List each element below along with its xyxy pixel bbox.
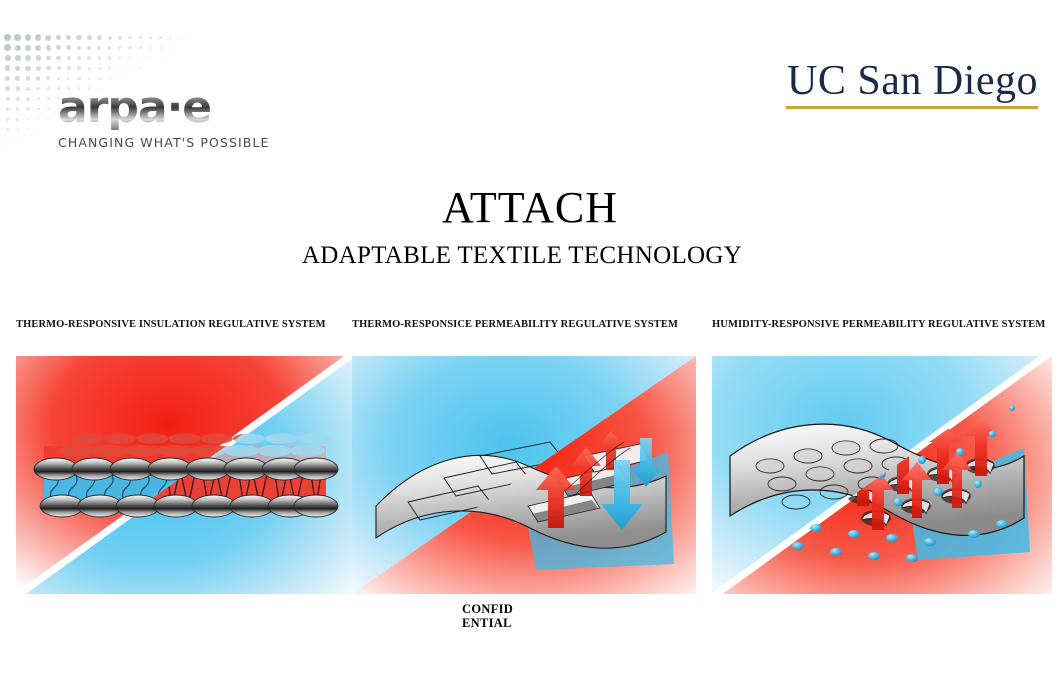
dot-matrix-dot xyxy=(5,76,10,81)
dot-matrix-dot xyxy=(37,108,40,111)
thermo-responsive-insulation-illustration xyxy=(16,356,354,594)
dot-matrix-dot xyxy=(56,35,62,41)
dot-matrix-dot xyxy=(180,47,182,49)
dot-matrix-dot xyxy=(15,45,21,51)
dot-matrix-dot xyxy=(160,68,161,69)
dot-matrix-dot xyxy=(46,66,50,70)
dot-matrix-dot xyxy=(27,149,28,150)
dot-matrix-dot xyxy=(108,36,112,40)
dot-matrix-dot xyxy=(45,35,51,41)
dot-matrix-dot xyxy=(232,37,233,38)
dot-matrix-dot xyxy=(181,68,182,69)
dot-matrix-dot xyxy=(160,78,161,79)
dot-matrix-dot xyxy=(6,128,9,131)
dot-matrix-dot xyxy=(140,78,141,79)
dot-matrix-dot xyxy=(5,65,11,71)
dot-matrix-dot xyxy=(191,68,192,69)
arpa-e-tagline: CHANGING WHAT'S POSSIBLE xyxy=(58,135,270,150)
dot-matrix-dot xyxy=(160,57,162,59)
dot-matrix-dot xyxy=(56,45,61,50)
dot-matrix-dot xyxy=(98,56,101,59)
dot-matrix-dot xyxy=(7,149,9,151)
dot-matrix-dot xyxy=(17,128,19,130)
page-header: arpa·e CHANGING WHAT'S POSSIBLE UC San D… xyxy=(0,0,1060,170)
dot-matrix-dot xyxy=(25,66,30,71)
dot-matrix-dot xyxy=(87,46,91,50)
uc-san-diego-logo: UC San Diego xyxy=(786,58,1038,109)
panel-heading: THERMO-RESPONSIVE INSULATION REGULATIVE … xyxy=(16,318,354,348)
dot-matrix-dot xyxy=(46,45,51,50)
dot-matrix-dot xyxy=(139,67,141,69)
dot-matrix-dot xyxy=(128,46,131,49)
dot-matrix-dot xyxy=(88,77,91,80)
dot-matrix-dot xyxy=(170,47,172,49)
dot-matrix-dot xyxy=(4,34,11,41)
dot-matrix-dot xyxy=(16,118,19,121)
dot-matrix-dot xyxy=(5,86,10,91)
dot-matrix-dot xyxy=(15,55,21,61)
title-block: ATTACH ADAPTABLE TEXTILE TECHNOLOGY xyxy=(0,182,1060,272)
dot-matrix-dot xyxy=(6,107,10,111)
dot-matrix-dot xyxy=(98,67,101,70)
dot-matrix-dot xyxy=(108,46,112,50)
dot-matrix-dot xyxy=(77,77,80,80)
dot-matrix-dot xyxy=(26,107,29,110)
dot-matrix-dot xyxy=(97,46,101,50)
panel-thermo-insulation: THERMO-RESPONSIVE INSULATION REGULATIVE … xyxy=(16,318,354,594)
dot-matrix-dot xyxy=(16,86,20,90)
dot-matrix-dot xyxy=(4,44,11,51)
dot-matrix-dot xyxy=(201,47,202,48)
dot-matrix-dot xyxy=(191,47,192,48)
dot-matrix-dot xyxy=(211,58,212,59)
dot-matrix-dot xyxy=(129,78,131,80)
dot-matrix-dot xyxy=(108,67,111,70)
dot-matrix-dot xyxy=(47,118,49,120)
dot-matrix-dot xyxy=(25,34,32,41)
dot-matrix-dot xyxy=(37,97,40,100)
dot-matrix-dot xyxy=(221,37,222,38)
dot-matrix-dot xyxy=(77,56,81,60)
dot-matrix-dot xyxy=(67,56,71,60)
dot-matrix-dot xyxy=(36,55,41,60)
dot-matrix-dot xyxy=(57,77,61,81)
dot-matrix-dot xyxy=(160,47,162,49)
dot-matrix-dot xyxy=(7,139,9,141)
dot-matrix-dot xyxy=(17,149,18,150)
dot-matrix-dot xyxy=(77,66,81,70)
dot-matrix-dot xyxy=(190,37,192,39)
dot-matrix-dot xyxy=(150,78,151,79)
dot-matrix-dot xyxy=(201,37,202,38)
dot-matrix-dot xyxy=(242,37,243,38)
dot-matrix-dot xyxy=(77,46,82,51)
dot-matrix-dot xyxy=(37,118,39,120)
panel-heading: HUMIDITY-RESPONSIVE PERMEABILITY REGULAT… xyxy=(712,318,1050,348)
dot-matrix-dot xyxy=(159,36,162,39)
dot-matrix-dot xyxy=(15,76,20,81)
dot-matrix-dot xyxy=(35,34,41,40)
dot-matrix-dot xyxy=(150,67,151,68)
dot-matrix-dot xyxy=(180,57,181,58)
dot-matrix-dot xyxy=(17,139,19,141)
dot-matrix-dot xyxy=(46,76,50,80)
dot-matrix-dot xyxy=(87,35,92,40)
page-subtitle: ADAPTABLE TEXTILE TECHNOLOGY xyxy=(0,240,1060,272)
dot-matrix-dot xyxy=(129,57,132,60)
dot-matrix-dot xyxy=(139,36,142,39)
panel-humidity-permeability: HUMIDITY-RESPONSIVE PERMEABILITY REGULAT… xyxy=(712,318,1050,594)
dot-matrix-dot xyxy=(27,128,29,130)
dot-matrix-dot xyxy=(47,108,49,110)
dot-matrix-dot xyxy=(221,47,222,48)
dot-matrix-dot xyxy=(56,56,61,61)
dot-matrix-dot xyxy=(35,45,41,51)
dot-matrix-dot xyxy=(38,149,39,150)
dot-matrix-dot xyxy=(26,87,30,91)
dot-matrix-dot xyxy=(119,67,121,69)
dot-matrix-dot xyxy=(47,97,50,100)
dot-matrix-dot xyxy=(48,129,49,130)
dot-matrix-dot xyxy=(170,57,171,58)
dot-matrix-dot xyxy=(88,67,91,70)
dot-matrix-dot xyxy=(109,77,111,79)
dot-matrix-dot xyxy=(67,66,71,70)
uc-san-diego-rule xyxy=(786,106,1038,109)
dot-matrix-dot xyxy=(118,46,121,49)
dot-matrix-dot xyxy=(180,37,182,39)
dot-matrix-dot xyxy=(139,57,141,59)
dot-matrix-dot xyxy=(149,36,152,39)
dot-matrix-dot xyxy=(46,56,51,61)
dot-matrix-dot xyxy=(87,56,91,60)
humidity-responsive-permeability-illustration xyxy=(712,356,1052,594)
dot-matrix-dot xyxy=(211,47,212,48)
dot-matrix-dot xyxy=(26,97,30,101)
dot-matrix-dot xyxy=(97,35,101,39)
dot-matrix-dot xyxy=(48,149,49,150)
arpa-e-logo: arpa·e CHANGING WHAT'S POSSIBLE xyxy=(58,86,270,156)
dot-matrix-dot xyxy=(211,37,212,38)
panel-thermo-permeability: THERMO-RESPONSICE PERMEABILITY REGULATIV… xyxy=(352,318,690,594)
dot-matrix-dot xyxy=(38,139,39,140)
dot-matrix-dot xyxy=(36,87,40,91)
arpa-e-wordmark: arpa·e xyxy=(58,86,211,130)
dot-matrix-dot xyxy=(76,35,81,40)
dot-matrix-dot xyxy=(149,57,151,59)
dot-matrix-dot xyxy=(27,118,30,121)
dot-matrix-dot xyxy=(5,55,11,61)
dot-matrix-dot xyxy=(119,77,121,79)
dot-matrix-dot xyxy=(118,57,121,60)
dot-matrix-dot xyxy=(25,55,31,61)
dot-matrix-dot xyxy=(36,66,41,71)
dot-matrix-dot xyxy=(6,118,9,121)
dot-matrix-dot xyxy=(47,87,50,90)
dot-matrix-dot xyxy=(66,45,71,50)
dot-matrix-dot xyxy=(170,78,171,79)
dot-matrix-dot xyxy=(16,97,20,101)
dot-matrix-dot xyxy=(48,139,49,140)
dot-matrix-dot xyxy=(170,36,172,38)
dot-matrix-dot xyxy=(139,46,142,49)
panel-heading: THERMO-RESPONSICE PERMEABILITY REGULATIV… xyxy=(352,318,690,348)
dot-matrix-dot xyxy=(14,34,21,41)
dot-matrix-dot xyxy=(170,68,171,69)
dot-matrix-dot xyxy=(27,139,29,141)
dot-matrix-dot xyxy=(118,36,122,40)
dot-matrix-dot xyxy=(149,47,151,49)
dot-matrix-dot xyxy=(201,58,202,59)
dot-matrix-dot xyxy=(37,129,39,131)
confidential-label: CONFIDENTIAL xyxy=(462,602,516,630)
thermo-responsive-permeability-illustration xyxy=(352,356,696,594)
dot-matrix-dot xyxy=(98,77,100,79)
dot-matrix-dot xyxy=(108,56,111,59)
uc-san-diego-wordmark: UC San Diego xyxy=(786,58,1038,104)
dot-matrix-dot xyxy=(36,76,40,80)
dot-matrix-dot xyxy=(128,36,132,40)
dot-matrix-dot xyxy=(6,97,10,101)
dot-matrix-dot xyxy=(66,35,71,40)
dot-matrix-dot xyxy=(129,67,131,69)
dot-matrix-dot xyxy=(16,107,19,110)
dot-matrix-dot xyxy=(191,58,192,59)
dot-matrix-dot xyxy=(15,66,20,71)
dot-matrix-dot xyxy=(25,45,31,51)
dot-matrix-dot xyxy=(67,77,70,80)
page-title: ATTACH xyxy=(0,182,1060,234)
dot-matrix-dot xyxy=(57,66,61,70)
dot-matrix-dot xyxy=(26,76,31,81)
